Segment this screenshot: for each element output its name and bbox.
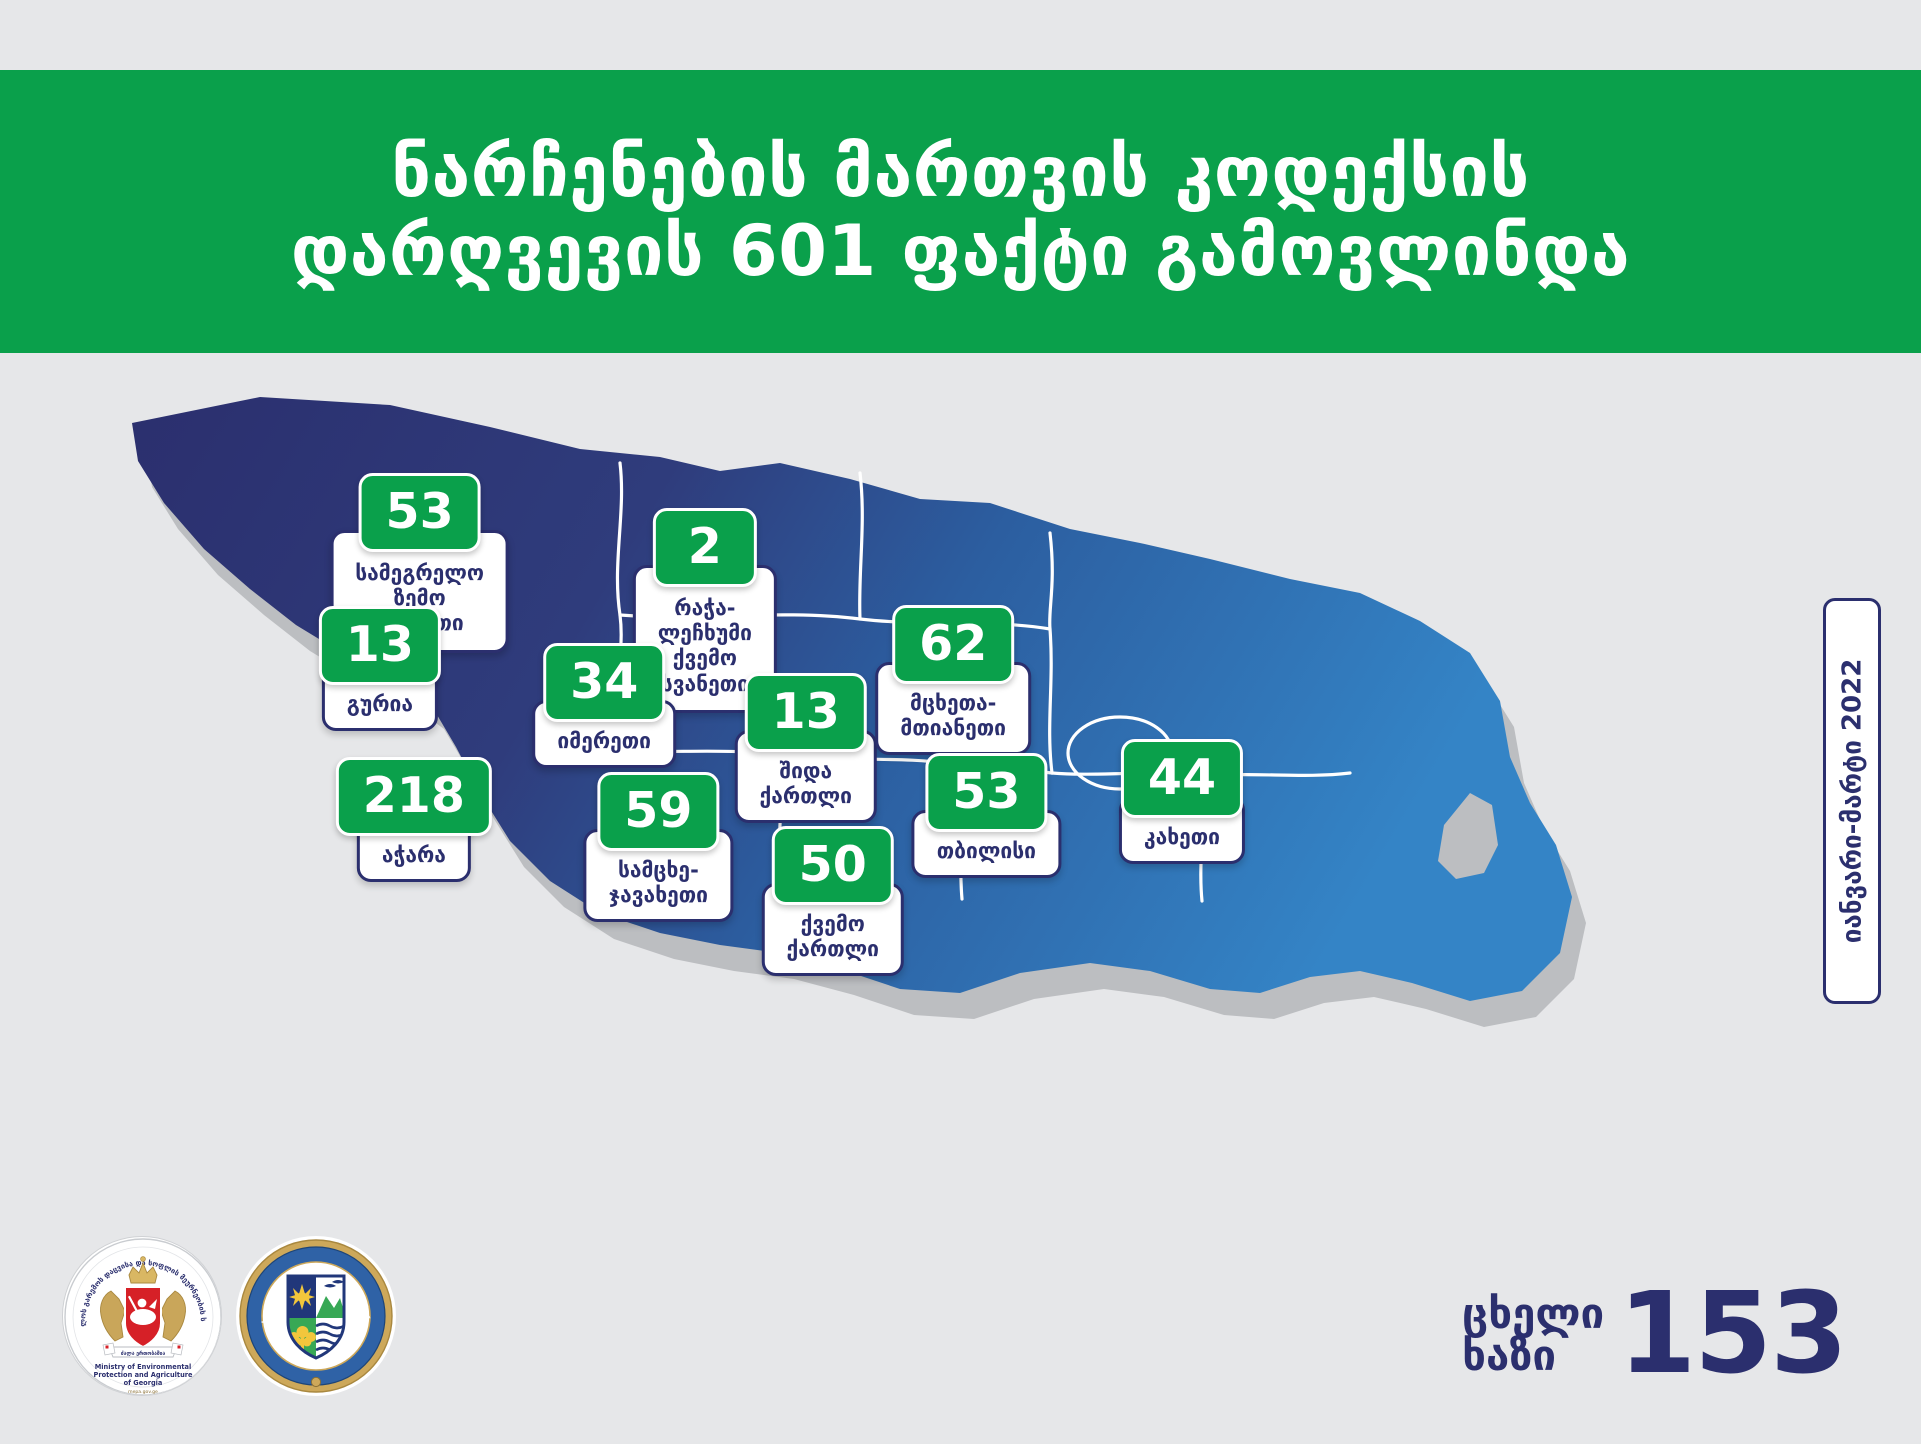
region-count-badge: 2 bbox=[653, 508, 757, 587]
department-emblem-icon: გარემოსდაცვითი ზედამხედველობის დეპარტამე… bbox=[236, 1236, 396, 1396]
ministry-emblem-icon: საქართველოს გარემოს დაცვისა და სოფლის მე… bbox=[63, 1237, 222, 1396]
region-count-badge: 50 bbox=[772, 826, 894, 905]
page-title-line-1: ნარჩენების მართვის კოდექსის bbox=[391, 133, 1530, 211]
svg-text:ძალა ერთობაშია: ძალა ერთობაშია bbox=[121, 1350, 166, 1357]
hotline-block: ცხელი ხაზი 153 bbox=[1462, 1285, 1846, 1384]
ministry-caption-line-2: Protection and Agriculture bbox=[93, 1371, 193, 1379]
period-tag: იანვარი-მარტი 2022 bbox=[1823, 598, 1881, 1004]
page-title-line-2: დარღვევის 601 ფაქტი გამოვლინდა bbox=[291, 212, 1630, 290]
period-label: იანვარი-მარტი 2022 bbox=[1837, 659, 1867, 944]
ministry-url: mepa.gov.ge bbox=[128, 1390, 158, 1395]
hotline-label: ცხელი ხაზი bbox=[1462, 1293, 1604, 1377]
region-count-badge: 59 bbox=[597, 772, 719, 851]
region-count-badge: 34 bbox=[543, 643, 665, 722]
department-logo: გარემოსდაცვითი ზედამხედველობის დეპარტამე… bbox=[236, 1236, 396, 1396]
ministry-logo: საქართველოს გარემოს დაცვისა და სოფლის მე… bbox=[62, 1236, 222, 1396]
region-count-badge: 13 bbox=[319, 606, 441, 685]
region-count-badge: 218 bbox=[336, 757, 492, 836]
footer-logos: საქართველოს გარემოს დაცვისა და სოფლის მე… bbox=[62, 1236, 396, 1396]
region-count-badge: 53 bbox=[925, 753, 1047, 832]
region-count-badge: 53 bbox=[358, 473, 480, 552]
ministry-caption-line-1: Ministry of Environmental bbox=[95, 1363, 192, 1371]
header-banner: ნარჩენების მართვის კოდექსის დარღვევის 60… bbox=[0, 70, 1921, 353]
region-count-badge: 13 bbox=[745, 673, 867, 752]
region-count-badge: 62 bbox=[892, 605, 1014, 684]
ministry-caption-line-3: of Georgia bbox=[124, 1379, 163, 1387]
georgia-map bbox=[60, 353, 1760, 1213]
region-count-badge: 44 bbox=[1121, 739, 1243, 818]
hotline-number: 153 bbox=[1618, 1285, 1846, 1384]
